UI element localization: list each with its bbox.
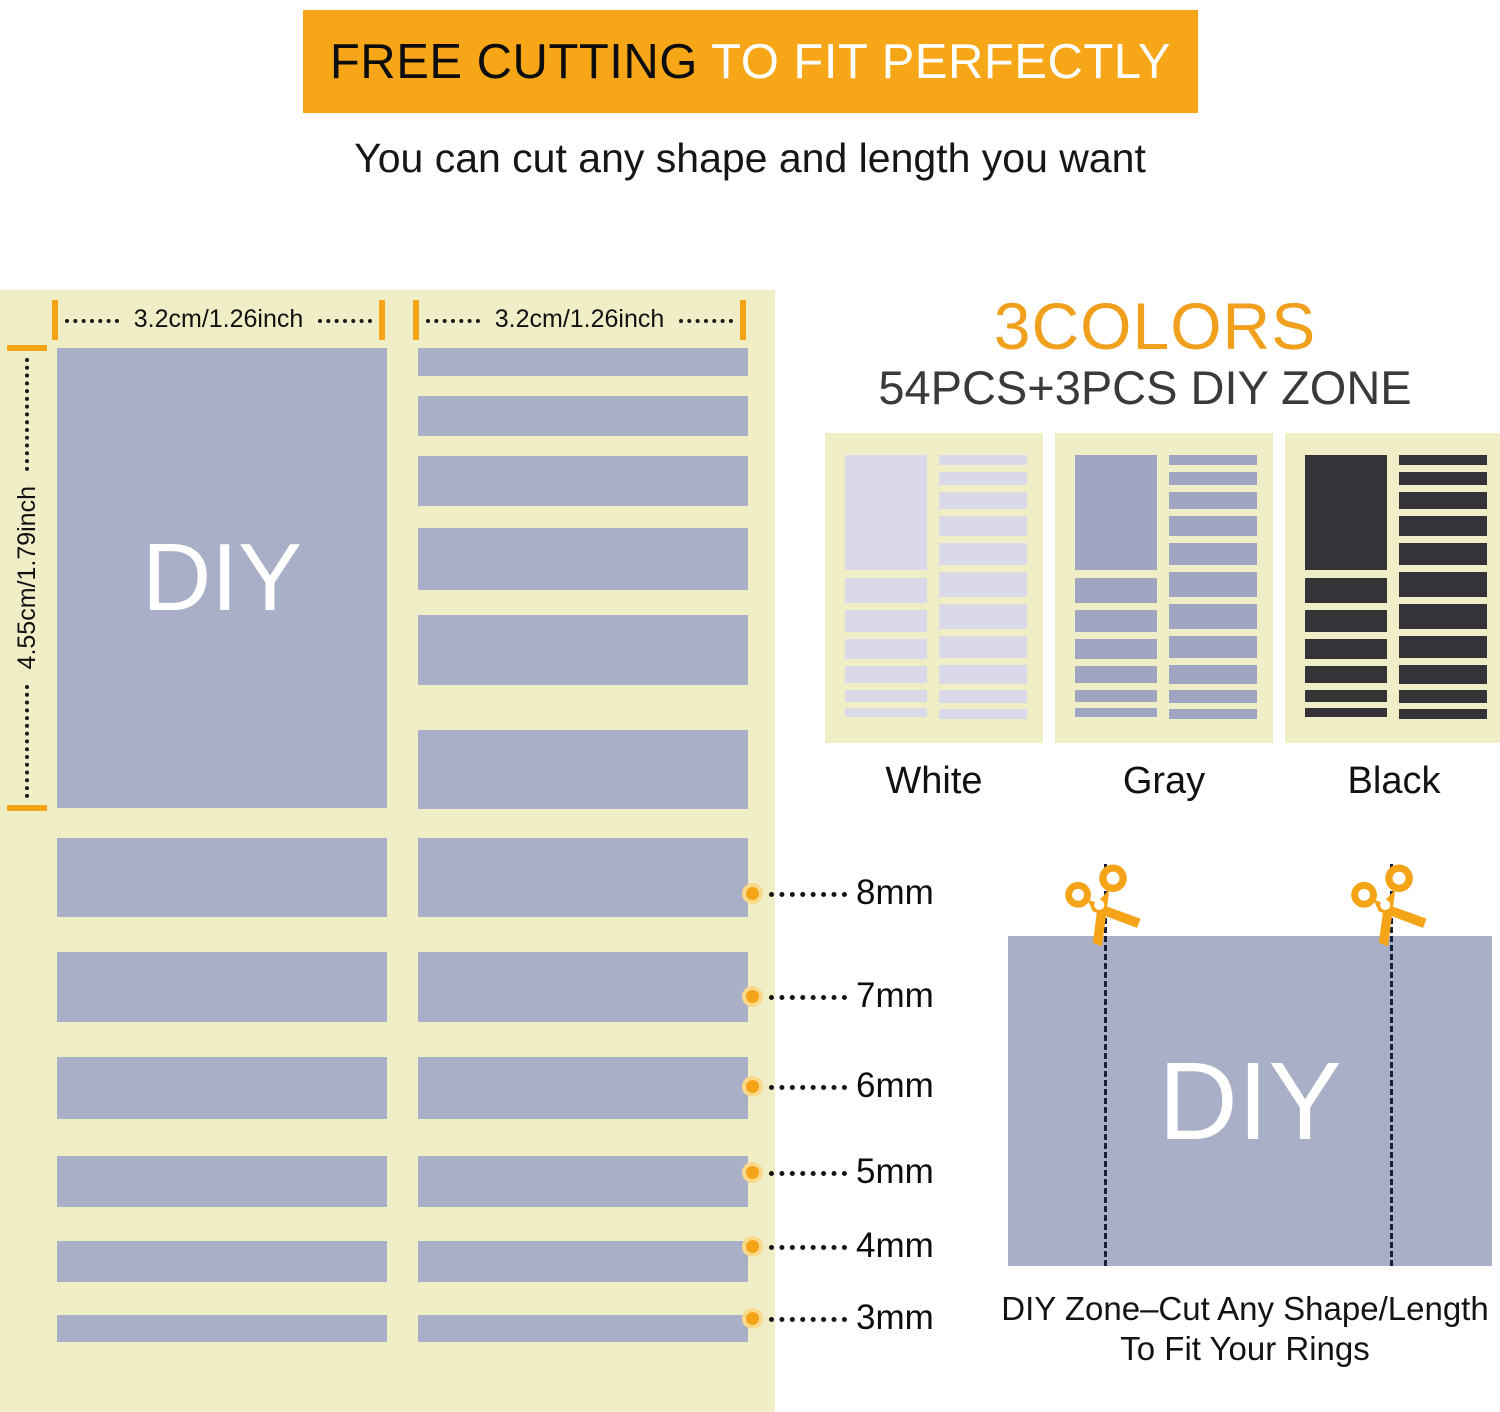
dimension-leader [679,319,733,323]
callout-label: 3mm [856,1298,934,1338]
callout-label: 5mm [856,1152,934,1192]
callout-dot-icon [742,883,763,904]
callout-label: 6mm [856,1066,934,1106]
colors-subtitle: 54PCS+3PCS DIY ZONE [790,360,1500,415]
dimension-left-vertical: 4.55cm/1.79inch [5,345,49,811]
callout-label: 7mm [856,976,934,1016]
diy-block-main-sheet: DIY [57,348,387,808]
callout-dot-icon [742,1162,763,1183]
strip-left-4mm [57,1241,387,1282]
dimension-top-right: 3.2cm/1.26inch [413,298,746,342]
colors-title: 3COLORS [810,288,1500,364]
callout-leader [769,995,847,1000]
strip-left-3mm [57,1315,387,1342]
dimension-top-right-label: 3.2cm/1.26inch [487,305,673,334]
dimension-leader [318,319,372,323]
diy-zone-caption-line1: DIY Zone–Cut Any Shape/Length [990,1289,1500,1329]
callout-6mm: 6mm [742,1071,934,1101]
callout-dot-icon [742,1076,763,1097]
callout-dot-icon [742,986,763,1007]
dimension-leader [426,319,480,323]
diy-zone-block: DIY [1008,936,1492,1266]
strip-right-lower-4mm [418,1241,748,1282]
strip-right-lower-6mm [418,1057,748,1119]
dimension-leader [25,685,29,798]
callout-label: 8mm [856,873,934,913]
swatch-black-chips [1285,433,1500,743]
callout-dot-icon [742,1308,763,1329]
dimension-left-vertical-label: 4.55cm/1.79inch [13,478,42,677]
strip-right-upper-8mm [418,730,748,809]
dimension-tick-icon [52,300,58,340]
callout-leader [769,1317,847,1322]
dimension-leader [25,358,29,471]
header-banner-strong: FREE CUTTING [330,35,698,89]
strip-right-upper-4mm [418,396,748,436]
header-banner-light: TO FIT PERFECTLY [698,35,1171,89]
callout-7mm: 7mm [742,981,934,1011]
callout-leader [769,1085,847,1090]
strip-left-5mm [57,1156,387,1207]
diy-zone-caption-line2: To Fit Your Rings [990,1329,1500,1369]
diy-block-label: DIY [142,523,302,633]
dimension-tick-icon [7,345,47,351]
callout-label: 4mm [856,1226,934,1266]
swatch-white[interactable] [825,433,1043,743]
dimension-tick-icon [413,300,419,340]
callout-3mm: 3mm [742,1303,934,1333]
swatch-white-label: White [825,760,1043,803]
header-banner-text: FREE CUTTING TO FIT PERFECTLY [330,34,1171,90]
strip-right-upper-5mm [418,456,748,506]
dimension-leader [65,319,119,323]
callout-5mm: 5mm [742,1157,934,1187]
strip-right-lower-8mm [418,838,748,917]
diy-zone-block-label: DIY [1008,936,1492,1266]
callout-leader [769,1171,847,1176]
swatch-gray[interactable] [1055,433,1273,743]
strip-right-upper-3mm [418,348,748,376]
swatch-white-chips [825,433,1043,743]
strip-right-upper-6mm [418,528,748,590]
callout-leader [769,1245,847,1250]
diy-zone-caption: DIY Zone–Cut Any Shape/Length To Fit You… [990,1289,1500,1370]
dimension-top-left: 3.2cm/1.26inch [52,298,385,342]
strip-right-lower-3mm [418,1315,748,1342]
strip-left-7mm [57,952,387,1022]
dimension-tick-icon [7,805,47,811]
callout-4mm: 4mm [742,1231,934,1261]
header-banner: FREE CUTTING TO FIT PERFECTLY [303,10,1198,113]
callout-8mm: 8mm [742,878,934,908]
strip-right-upper-7mm [418,615,748,685]
strip-left-8mm [57,838,387,917]
callout-leader [769,892,847,897]
main-sheet-panel: 3.2cm/1.26inch 3.2cm/1.26inch 4.55cm/1.7… [0,290,775,1412]
header-subtitle: You can cut any shape and length you wan… [0,135,1500,182]
swatch-gray-chips [1055,433,1273,743]
dimension-top-left-label: 3.2cm/1.26inch [126,305,312,334]
strip-left-6mm [57,1057,387,1119]
strip-right-lower-5mm [418,1156,748,1207]
swatch-black[interactable] [1285,433,1500,743]
dimension-tick-icon [379,300,385,340]
swatch-gray-label: Gray [1055,760,1273,803]
callout-dot-icon [742,1236,763,1257]
swatch-black-label: Black [1285,760,1500,803]
dimension-tick-icon [740,300,746,340]
strip-right-lower-7mm [418,952,748,1022]
